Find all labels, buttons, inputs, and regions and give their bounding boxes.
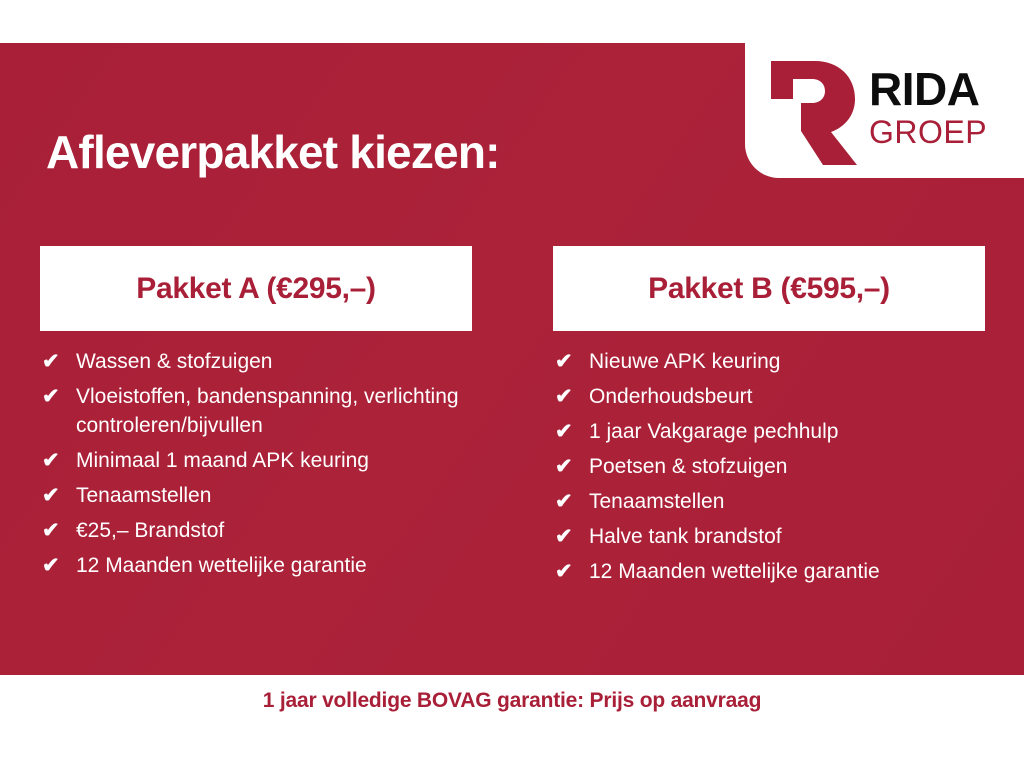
slide-root: Afleverpakket kiezen: RIDA GROEP Pakket …: [0, 0, 1024, 768]
list-item: ✔ 12 Maanden wettelijke garantie: [553, 557, 985, 586]
check-icon: ✔: [42, 382, 68, 411]
check-icon: ✔: [555, 487, 581, 516]
feature-text: Onderhoudsbeurt: [589, 385, 752, 408]
list-item: ✔ Poetsen & stofzuigen: [553, 452, 985, 481]
list-item: ✔ Halve tank brandstof: [553, 522, 985, 551]
list-item: ✔ Wassen & stofzuigen: [40, 347, 472, 376]
list-item: ✔ Onderhoudsbeurt: [553, 382, 985, 411]
check-icon: ✔: [555, 452, 581, 481]
check-icon: ✔: [555, 522, 581, 551]
red-content-panel: Afleverpakket kiezen: RIDA GROEP Pakket …: [0, 43, 1024, 675]
feature-text: 12 Maanden wettelijke garantie: [589, 560, 880, 583]
footer-bar: 1 jaar volledige BOVAG garantie: Prijs o…: [0, 675, 1024, 768]
feature-text: Poetsen & stofzuigen: [589, 455, 787, 478]
feature-text: Vloeistoffen, bandenspanning, verlichtin…: [76, 385, 459, 437]
feature-text: Nieuwe APK keuring: [589, 350, 780, 373]
package-column-a: Pakket A (€295,–) ✔ Wassen & stofzuigen …: [40, 246, 472, 586]
feature-text: €25,– Brandstof: [76, 519, 224, 542]
list-item: ✔ Nieuwe APK keuring: [553, 347, 985, 376]
package-b-header-label: Pakket B (€595,–): [648, 272, 890, 306]
check-icon: ✔: [555, 417, 581, 446]
package-b-feature-list: ✔ Nieuwe APK keuring ✔ Onderhoudsbeurt ✔…: [553, 331, 985, 586]
list-item: ✔ Minimaal 1 maand APK keuring: [40, 446, 472, 475]
feature-text: Halve tank brandstof: [589, 525, 782, 548]
package-a-feature-list: ✔ Wassen & stofzuigen ✔ Vloeistoffen, ba…: [40, 331, 472, 580]
feature-text: Tenaamstellen: [589, 490, 724, 513]
package-b-header[interactable]: Pakket B (€595,–): [553, 246, 985, 331]
check-icon: ✔: [42, 347, 68, 376]
check-icon: ✔: [42, 481, 68, 510]
feature-text: Wassen & stofzuigen: [76, 350, 273, 373]
check-icon: ✔: [42, 516, 68, 545]
package-a-header[interactable]: Pakket A (€295,–): [40, 246, 472, 331]
list-item: ✔ Tenaamstellen: [40, 481, 472, 510]
list-item: ✔ 1 jaar Vakgarage pechhulp: [553, 417, 985, 446]
check-icon: ✔: [42, 551, 68, 580]
feature-text: Tenaamstellen: [76, 484, 211, 507]
list-item: ✔ €25,– Brandstof: [40, 516, 472, 545]
check-icon: ✔: [42, 446, 68, 475]
check-icon: ✔: [555, 557, 581, 586]
check-icon: ✔: [555, 382, 581, 411]
package-column-b: Pakket B (€595,–) ✔ Nieuwe APK keuring ✔…: [553, 246, 985, 592]
list-item: ✔ 12 Maanden wettelijke garantie: [40, 551, 472, 580]
package-a-header-label: Pakket A (€295,–): [136, 272, 376, 306]
footer-note: 1 jaar volledige BOVAG garantie: Prijs o…: [263, 689, 761, 713]
check-icon: ✔: [555, 347, 581, 376]
feature-text: 12 Maanden wettelijke garantie: [76, 554, 367, 577]
package-columns: Pakket A (€295,–) ✔ Wassen & stofzuigen …: [0, 43, 1024, 675]
list-item: ✔ Vloeistoffen, bandenspanning, verlicht…: [40, 382, 472, 440]
feature-text: 1 jaar Vakgarage pechhulp: [589, 420, 838, 443]
feature-text: Minimaal 1 maand APK keuring: [76, 449, 369, 472]
list-item: ✔ Tenaamstellen: [553, 487, 985, 516]
